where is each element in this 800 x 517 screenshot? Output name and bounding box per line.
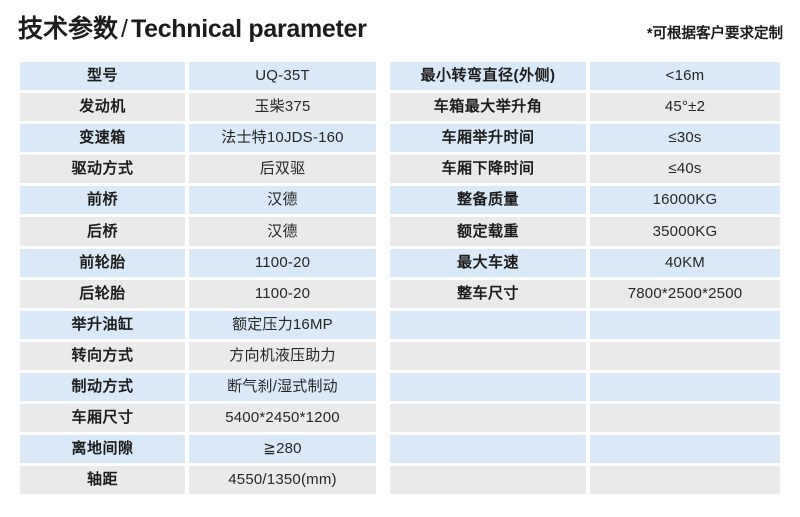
spec-label-cell: 驱动方式 <box>18 153 187 184</box>
table-row: 车箱最大举升角45°±2 <box>388 91 782 122</box>
table-row <box>388 402 782 433</box>
spec-label-cell: 变速箱 <box>18 122 187 153</box>
spec-label-cell <box>388 402 588 433</box>
spec-label-cell: 最大车速 <box>388 247 588 278</box>
spec-label-cell: 车厢尺寸 <box>18 402 187 433</box>
spec-label-cell: 轴距 <box>18 464 187 495</box>
spec-value-cell: 额定压力16MP <box>187 309 378 340</box>
spec-value-cell: 35000KG <box>588 215 782 246</box>
spec-label-cell <box>388 309 588 340</box>
table-row: 车厢尺寸5400*2450*1200 <box>18 402 378 433</box>
spec-value-cell <box>588 340 782 371</box>
spec-value-cell <box>588 464 782 495</box>
table-row <box>388 433 782 464</box>
table-row: 额定载重35000KG <box>388 215 782 246</box>
spec-value-cell <box>588 433 782 464</box>
spec-value-cell: <16m <box>588 60 782 91</box>
spec-value-cell <box>588 309 782 340</box>
spec-label-cell <box>388 464 588 495</box>
spec-label-cell: 整备质量 <box>388 184 588 215</box>
spec-label-cell: 转向方式 <box>18 340 187 371</box>
spec-value-cell: ≧280 <box>187 433 378 464</box>
table-row <box>388 340 782 371</box>
spec-label-cell <box>388 371 588 402</box>
spec-value-cell: 方向机液压助力 <box>187 340 378 371</box>
table-row: 最大车速40KM <box>388 247 782 278</box>
table-row <box>388 371 782 402</box>
spec-value-cell <box>588 402 782 433</box>
table-row: 轴距4550/1350(mm) <box>18 464 378 495</box>
table-row: 整备质量16000KG <box>388 184 782 215</box>
spec-value-cell: 玉柴375 <box>187 91 378 122</box>
spec-label-cell: 车厢下降时间 <box>388 153 588 184</box>
table-row: 型号UQ-35T <box>18 60 378 91</box>
spec-label-cell: 前桥 <box>18 184 187 215</box>
spec-value-cell: 汉德 <box>187 215 378 246</box>
spec-label-cell: 发动机 <box>18 91 187 122</box>
table-row: 离地间隙≧280 <box>18 433 378 464</box>
table-row: 制动方式断气刹/湿式制动 <box>18 371 378 402</box>
spec-table-right: 最小转弯直径(外侧)<16m车箱最大举升角45°±2车厢举升时间≤30s车厢下降… <box>388 60 782 495</box>
spec-value-cell: 法士特10JDS-160 <box>187 122 378 153</box>
spec-value-cell: 1100-20 <box>187 278 378 309</box>
page-title-cn: 技术参数 <box>18 15 118 43</box>
page-title-en: Technical parameter <box>131 15 367 43</box>
table-row <box>388 464 782 495</box>
spec-value-cell: 断气刹/湿式制动 <box>187 371 378 402</box>
spec-label-cell <box>388 340 588 371</box>
spec-label-cell: 车厢举升时间 <box>388 122 588 153</box>
table-row: 举升油缸额定压力16MP <box>18 309 378 340</box>
spec-label-cell: 前轮胎 <box>18 247 187 278</box>
spec-label-cell: 额定载重 <box>388 215 588 246</box>
table-row: 后轮胎1100-20 <box>18 278 378 309</box>
spec-label-cell: 后桥 <box>18 215 187 246</box>
spec-value-cell: 45°±2 <box>588 91 782 122</box>
spec-value-cell <box>588 371 782 402</box>
table-row: 前轮胎1100-20 <box>18 247 378 278</box>
table-row: 变速箱法士特10JDS-160 <box>18 122 378 153</box>
spec-tables-container: 型号UQ-35T发动机玉柴375变速箱法士特10JDS-160驱动方式后双驱前桥… <box>0 60 800 496</box>
spec-value-cell: ≤40s <box>588 153 782 184</box>
spec-value-cell: 40KM <box>588 247 782 278</box>
spec-value-cell: 4550/1350(mm) <box>187 464 378 495</box>
spec-value-cell: UQ-35T <box>187 60 378 91</box>
spec-label-cell: 整车尺寸 <box>388 278 588 309</box>
spec-value-cell: 后双驱 <box>187 153 378 184</box>
spec-value-cell: 16000KG <box>588 184 782 215</box>
table-row: 驱动方式后双驱 <box>18 153 378 184</box>
page-title: 技术参数/Technical parameter <box>18 14 367 44</box>
spec-value-cell: 1100-20 <box>187 247 378 278</box>
table-row: 车厢下降时间≤40s <box>388 153 782 184</box>
spec-label-cell: 型号 <box>18 60 187 91</box>
table-row: 前桥汉德 <box>18 184 378 215</box>
spec-value-cell: 汉德 <box>187 184 378 215</box>
spec-value-cell: 5400*2450*1200 <box>187 402 378 433</box>
table-row: 发动机玉柴375 <box>18 91 378 122</box>
spec-label-cell: 举升油缸 <box>18 309 187 340</box>
page-title-separator: / <box>118 15 131 43</box>
table-row: 最小转弯直径(外侧)<16m <box>388 60 782 91</box>
spec-label-cell: 最小转弯直径(外侧) <box>388 60 588 91</box>
spec-table-left: 型号UQ-35T发动机玉柴375变速箱法士特10JDS-160驱动方式后双驱前桥… <box>18 60 378 495</box>
spec-label-cell: 后轮胎 <box>18 278 187 309</box>
spec-label-cell: 车箱最大举升角 <box>388 91 588 122</box>
spec-label-cell: 制动方式 <box>18 371 187 402</box>
table-row <box>388 309 782 340</box>
page-header: 技术参数/Technical parameter *可根据客户要求定制 <box>0 0 800 58</box>
table-row: 整车尺寸7800*2500*2500 <box>388 278 782 309</box>
table-row: 转向方式方向机液压助力 <box>18 340 378 371</box>
spec-label-cell: 离地间隙 <box>18 433 187 464</box>
table-row: 后桥汉德 <box>18 215 378 246</box>
table-row: 车厢举升时间≤30s <box>388 122 782 153</box>
spec-value-cell: ≤30s <box>588 122 782 153</box>
customization-note: *可根据客户要求定制 <box>647 24 783 44</box>
spec-value-cell: 7800*2500*2500 <box>588 278 782 309</box>
spec-label-cell <box>388 433 588 464</box>
